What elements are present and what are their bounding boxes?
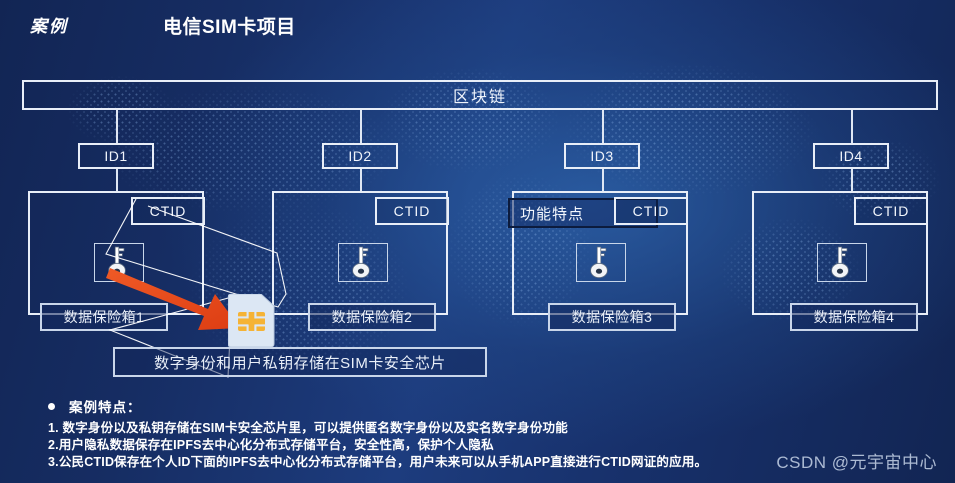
sim-chip-contacts [238, 312, 265, 331]
bullet-item-1: 1. 数字身份以及私钥存储在SIM卡安全芯片里，可以提供匿名数字身份以及实名数字… [48, 420, 768, 437]
bullet-item-3: 3.公民CTID保存在个人ID下面的IPFS去中心化分布式存储平台，用户未来可以… [48, 454, 768, 471]
arrow-shape [106, 268, 240, 330]
caption-box: 数字身份和用户私钥存储在SIM卡安全芯片 [113, 347, 487, 377]
bullet-heading: 案例特点： [48, 396, 768, 416]
csdn-watermark: CSDN @元宇宙中心 [776, 448, 937, 473]
sim-card-icon [228, 294, 275, 348]
bullet-list: 案例特点： 1. 数字身份以及私钥存储在SIM卡安全芯片里，可以提供匿名数字身份… [48, 396, 768, 471]
slide-canvas: 案例 电信SIM卡项目 区块链 ID1 ID2 ID3 ID4 CTID 数据保… [0, 0, 955, 483]
bullet-dot-icon [48, 403, 55, 410]
bullet-heading-text: 案例特点： [69, 396, 142, 416]
bullet-item-2: 2.用户隐私数据保存在IPFS去中心化分布式存储平台，安全性高，保护个人隐私 [48, 437, 768, 454]
